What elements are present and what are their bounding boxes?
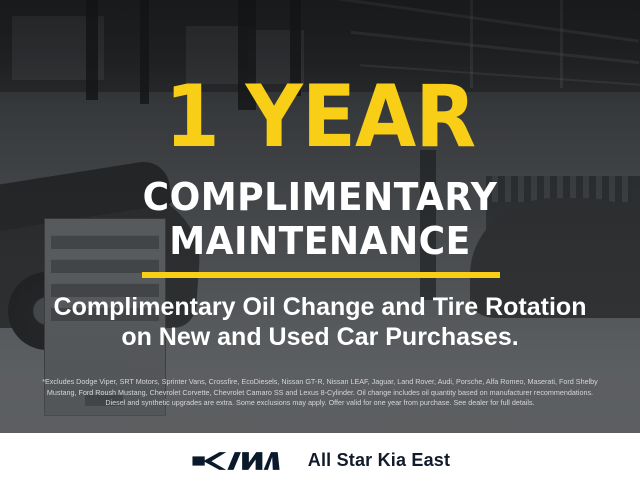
- dealer-name: All Star Kia East: [308, 450, 450, 471]
- disclaimer-text: *Excludes Dodge Viper, SRT Motors, Sprin…: [12, 377, 628, 409]
- yellow-divider: [142, 272, 500, 278]
- subheadline: Complimentary Oil Change and Tire Rotati…: [0, 292, 640, 352]
- headline-year: 1 YEAR: [26, 74, 615, 160]
- hero-banner: 1 YEAR COMPLIMENTARY MAINTENANCE Complim…: [0, 0, 640, 433]
- subheadline-line-2: on New and Used Car Purchases.: [0, 322, 640, 352]
- hero-content: 1 YEAR COMPLIMENTARY MAINTENANCE Complim…: [0, 0, 640, 433]
- disclaimer-line-2: Mustang, Ford Roush Mustang, Chevrolet C…: [12, 388, 628, 399]
- promo-ad: 1 YEAR COMPLIMENTARY MAINTENANCE Complim…: [0, 0, 640, 488]
- footer-bar: All Star Kia East: [0, 433, 640, 488]
- headline-complimentary: COMPLIMENTARY: [16, 178, 624, 216]
- disclaimer-line-1: *Excludes Dodge Viper, SRT Motors, Sprin…: [12, 377, 628, 388]
- kia-logo: [190, 450, 282, 472]
- headline-maintenance: MAINTENANCE: [16, 222, 624, 260]
- subheadline-line-1: Complimentary Oil Change and Tire Rotati…: [54, 293, 587, 321]
- disclaimer-line-3: Diesel and synthetic upgrades are extra.…: [12, 398, 628, 409]
